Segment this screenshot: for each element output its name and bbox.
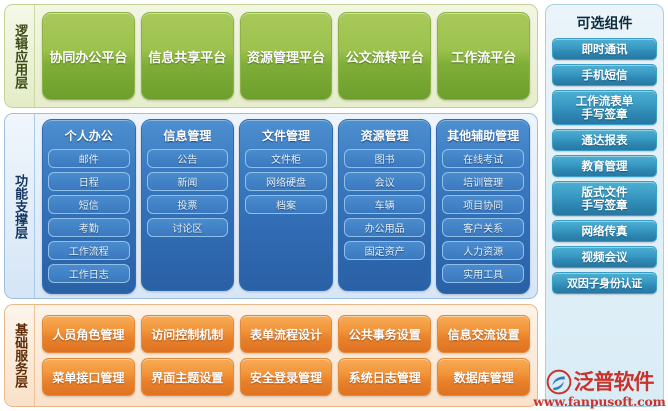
layer-base-service: 基础服务层 人员角色管理 访问控制机制 表单流程设计 公共事务设置 信息交流设置… [4,304,538,407]
module-item[interactable]: 短信 [48,195,130,214]
module-item[interactable]: 文件柜 [245,149,327,168]
platform-card[interactable]: 信息共享平台 [141,12,234,100]
layer-function-support-body: 个人办公 邮件 日程 短信 考勤 工作流程 工作日志 信息管理 公告 新闻 投票… [35,114,537,298]
service-card[interactable]: 界面主题设置 [141,358,234,396]
sidebar-item-mobile-sms[interactable]: 手机短信 [552,64,657,86]
service-card[interactable]: 数据库管理 [437,358,530,396]
layer-stack: 逻辑应用层 协同办公平台 信息共享平台 资源管理平台 公文流转平台 工作流平台 … [4,4,538,407]
module-item[interactable]: 投票 [147,195,229,214]
layer-logic-application: 逻辑应用层 协同办公平台 信息共享平台 资源管理平台 公文流转平台 工作流平台 [4,4,538,108]
sidebar-item-instant-messaging[interactable]: 即时通讯 [552,38,657,60]
service-card[interactable]: 菜单接口管理 [42,358,135,396]
platform-card[interactable]: 公文流转平台 [338,12,431,100]
module-item[interactable]: 日程 [48,172,130,191]
service-card[interactable]: 人员角色管理 [42,315,135,353]
sidebar-item-workflow-form-signature[interactable]: 工作流表单 手写签章 [552,90,657,125]
module-column-title: 其他辅助管理 [442,125,524,149]
sidebar-item-layout-file-signature[interactable]: 版式文件 手写签章 [552,181,657,216]
layer-logic-application-label: 逻辑应用层 [5,5,35,107]
layer-logic-application-body: 协同办公平台 信息共享平台 资源管理平台 公文流转平台 工作流平台 [35,5,537,107]
sidebar-item-education-management[interactable]: 教育管理 [552,155,657,177]
module-item[interactable]: 网络硬盘 [245,172,327,191]
sidebar-item-network-fax[interactable]: 网络传真 [552,220,657,242]
module-item[interactable]: 客户关系 [442,218,524,237]
module-column-title: 资源管理 [344,125,426,149]
module-column-title: 信息管理 [147,125,229,149]
module-item[interactable]: 实用工具 [442,264,524,283]
service-card[interactable]: 系统日志管理 [338,358,431,396]
service-card[interactable]: 表单流程设计 [240,315,333,353]
architecture-diagram: 逻辑应用层 协同办公平台 信息共享平台 资源管理平台 公文流转平台 工作流平台 … [0,0,668,411]
service-card[interactable]: 访问控制机制 [141,315,234,353]
module-item[interactable]: 培训管理 [442,172,524,191]
module-column-resource-management: 资源管理 图书 会议 车辆 办公用品 固定资产 [338,119,432,291]
module-item[interactable]: 车辆 [344,195,426,214]
module-column-title: 个人办公 [48,125,130,149]
module-item[interactable]: 图书 [344,149,426,168]
module-item[interactable]: 固定资产 [344,241,426,260]
sidebar-item-tongda-report[interactable]: 通达报表 [552,129,657,151]
module-column-personal-office: 个人办公 邮件 日程 短信 考勤 工作流程 工作日志 [42,119,136,294]
service-row: 菜单接口管理 界面主题设置 安全登录管理 系统日志管理 数据库管理 [42,358,530,396]
platform-card[interactable]: 工作流平台 [437,12,530,100]
module-item[interactable]: 工作流程 [48,241,130,260]
module-column-other-auxiliary-management: 其他辅助管理 在线考试 培训管理 项目协同 客户关系 人力资源 实用工具 [436,119,530,294]
optional-components-panel: 可选组件 即时通讯 手机短信 工作流表单 手写签章 通达报表 教育管理 版式文件… [545,4,664,407]
module-item[interactable]: 工作日志 [48,264,130,283]
module-column-information-management: 信息管理 公告 新闻 投票 讨论区 [141,119,235,291]
module-item[interactable]: 公告 [147,149,229,168]
service-card[interactable]: 公共事务设置 [338,315,431,353]
sidebar-item-two-factor-authentication[interactable]: 双因子身份认证 [552,272,657,294]
module-column-title: 文件管理 [245,125,327,149]
module-item[interactable]: 考勤 [48,218,130,237]
layer-base-service-label: 基础服务层 [5,305,35,406]
module-item[interactable]: 讨论区 [147,218,229,237]
module-item[interactable]: 会议 [344,172,426,191]
service-card[interactable]: 安全登录管理 [240,358,333,396]
module-item[interactable]: 新闻 [147,172,229,191]
module-item[interactable]: 邮件 [48,149,130,168]
optional-components-title: 可选组件 [552,9,657,38]
module-item[interactable]: 人力资源 [442,241,524,260]
service-card[interactable]: 信息交流设置 [437,315,530,353]
layer-function-support-label: 功能支撑层 [5,114,35,298]
module-item[interactable]: 在线考试 [442,149,524,168]
layer-function-support: 功能支撑层 个人办公 邮件 日程 短信 考勤 工作流程 工作日志 信息管理 公告… [4,113,538,299]
service-row: 人员角色管理 访问控制机制 表单流程设计 公共事务设置 信息交流设置 [42,315,530,353]
module-column-file-management: 文件管理 文件柜 网络硬盘 档案 [239,119,333,291]
platform-card[interactable]: 资源管理平台 [240,12,333,100]
platform-card[interactable]: 协同办公平台 [42,12,135,100]
sidebar-item-video-conference[interactable]: 视频会议 [552,246,657,268]
module-item[interactable]: 项目协同 [442,195,524,214]
module-item[interactable]: 办公用品 [344,218,426,237]
layer-base-service-body: 人员角色管理 访问控制机制 表单流程设计 公共事务设置 信息交流设置 菜单接口管… [35,305,537,406]
module-item[interactable]: 档案 [245,195,327,214]
